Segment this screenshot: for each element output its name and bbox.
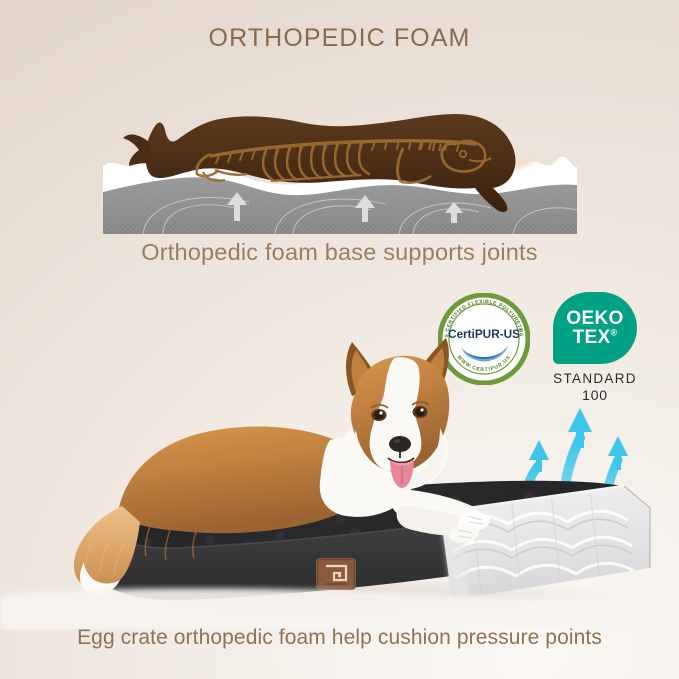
caption-orthopedic-base: Orthopedic foam base supports joints bbox=[0, 239, 679, 266]
dog-head bbox=[346, 338, 449, 488]
page-title: ORTHOPEDIC FOAM bbox=[0, 24, 679, 53]
dog-on-orthopedic-bed bbox=[0, 300, 679, 630]
product-feature-image: ORTHOPEDIC FOAM bbox=[0, 0, 679, 679]
brand-logo-patch bbox=[316, 558, 356, 590]
orthopedic-support-diagram bbox=[103, 82, 577, 234]
caption-egg-crate: Egg crate orthopedic foam help cushion p… bbox=[0, 626, 679, 650]
